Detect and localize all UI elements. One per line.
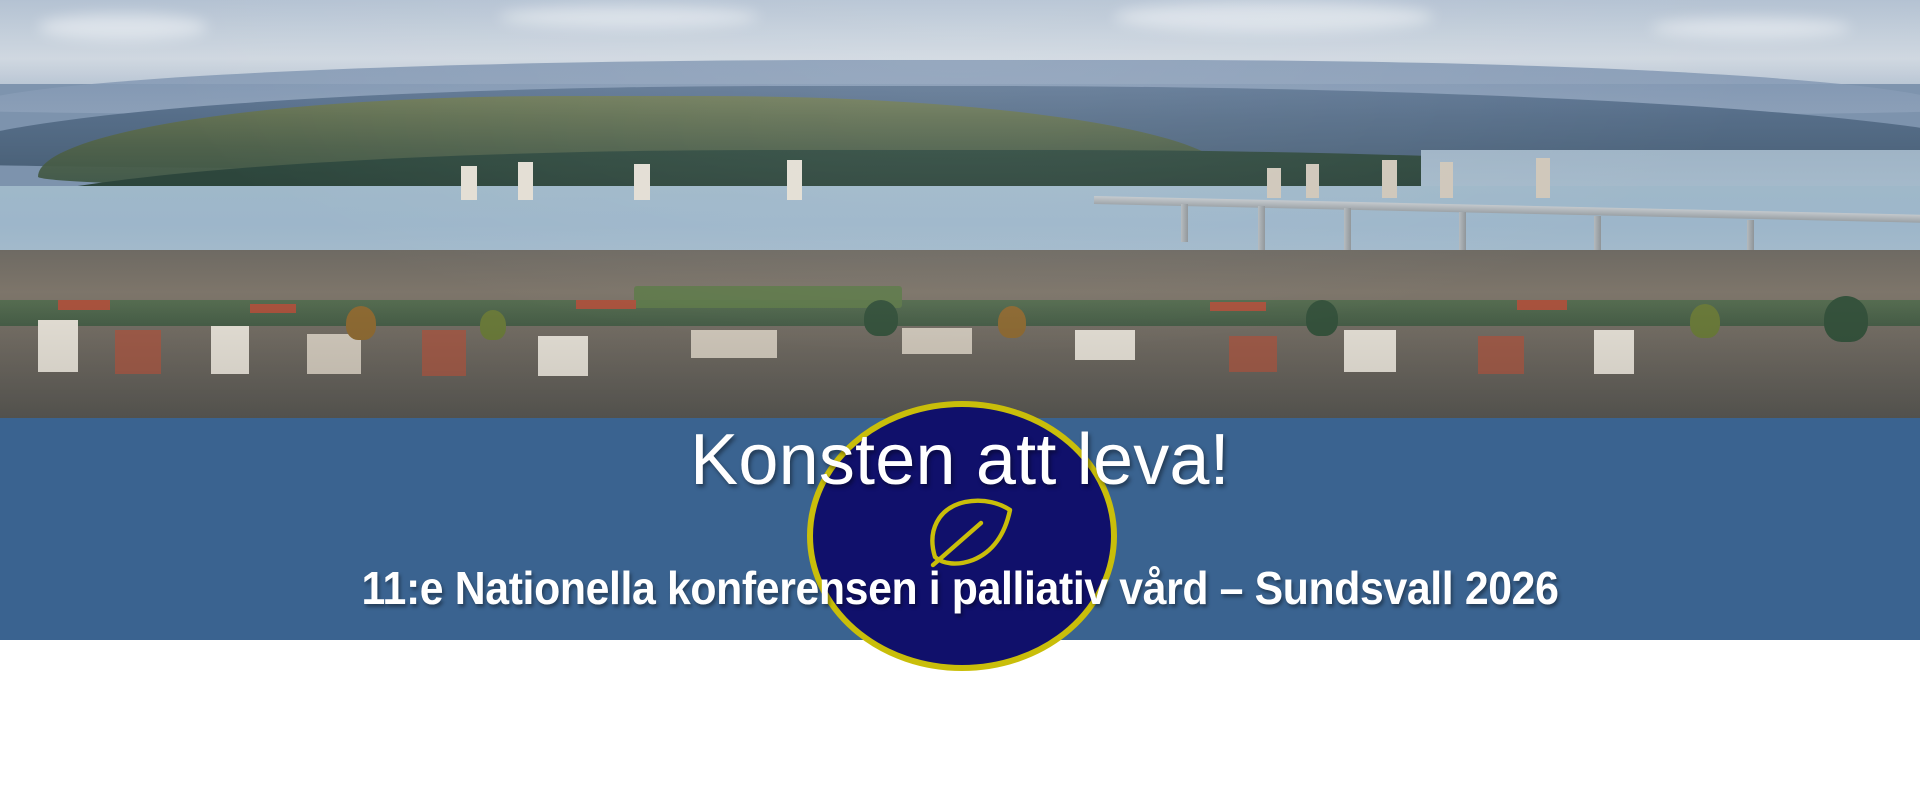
page-title: Konsten att leva! <box>0 424 1920 496</box>
conference-banner-page: Konsten att leva! 11:e Nationella konfer… <box>0 0 1920 792</box>
sundsvall-aerial-photo <box>0 0 1920 418</box>
page-subtitle: 11:e Nationella konferensen i palliativ … <box>67 565 1853 611</box>
photo-grade <box>0 0 1920 418</box>
